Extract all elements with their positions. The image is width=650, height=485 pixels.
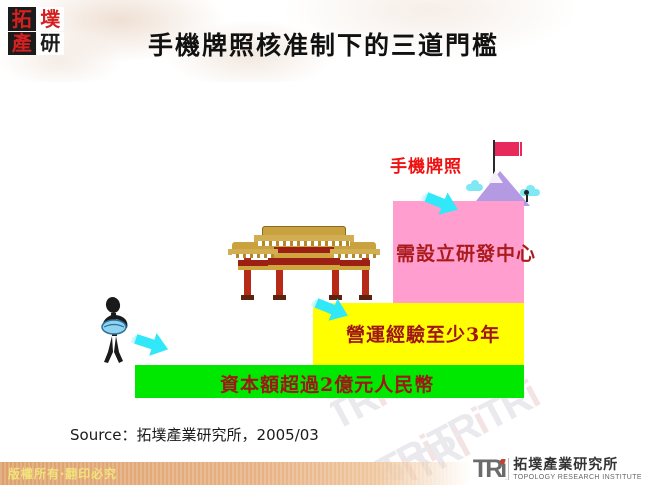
goal-label: 手機牌照 xyxy=(390,152,462,177)
arrow-icon xyxy=(420,189,462,223)
step-bar-3-label: 需設立研發中心 xyxy=(396,239,536,266)
tri-logo-divider xyxy=(508,458,509,480)
step-bar-1: 資本額超過2億元人民幣 xyxy=(135,365,524,398)
gate-base xyxy=(273,295,286,300)
gate-beam xyxy=(238,266,272,270)
step-bar-1-label: 資本額超過2億元人民幣 xyxy=(220,370,434,397)
slide-header: 拓 墣 產 研 手機牌照核准制下的三道門檻 xyxy=(0,0,650,82)
porter-figure xyxy=(96,296,142,366)
paifang-gate-graphic xyxy=(228,222,380,302)
tri-logo-names: 拓墣產業研究所 TOPOLOGY RESEARCH INSTITUTE xyxy=(513,458,642,481)
corner-logo: 拓 墣 產 研 xyxy=(8,7,64,55)
gate-beam xyxy=(336,266,370,270)
slide-canvas: TRiTRiTRi TRiTRiTRi TRiTRiTRi TRiTRiTRi … xyxy=(0,0,650,485)
tri-logo-cn: 拓墣產業研究所 xyxy=(513,458,642,472)
corner-logo-char-1: 拓 xyxy=(8,7,36,31)
mountain-snowcap xyxy=(488,171,503,183)
gate-dentil xyxy=(232,254,274,258)
tri-logo-en: TOPOLOGY RESEARCH INSTITUTE xyxy=(513,474,642,481)
corner-logo-char-4: 研 xyxy=(37,32,65,56)
gate-dentil xyxy=(258,241,350,246)
copyright-text: 版權所有‧翻印必究 xyxy=(8,465,117,482)
tri-logo-mark-text: TRi xyxy=(473,455,504,483)
tri-logo-dot-icon xyxy=(500,459,505,464)
mountain-peak-graphic xyxy=(466,140,546,206)
tri-logo-mark: TRi xyxy=(473,457,504,482)
step-bar-2-label: 營運經驗至少3年 xyxy=(346,320,500,347)
gate-dentil xyxy=(334,254,376,258)
page-title: 手機牌照核准制下的三道門檻 xyxy=(148,26,578,62)
cloud-icon xyxy=(466,184,483,191)
gate-band xyxy=(268,265,340,270)
tri-logo: TRi 拓墣產業研究所 TOPOLOGY RESEARCH INSTITUTE xyxy=(473,456,642,482)
arrow-icon xyxy=(310,295,352,329)
gate-base xyxy=(241,295,254,300)
corner-logo-char-2: 墣 xyxy=(37,7,65,31)
source-note: Source：拓墣產業研究所，2005/03 xyxy=(70,424,319,445)
red-flag-icon xyxy=(495,142,521,156)
corner-logo-char-3: 產 xyxy=(8,32,36,56)
gate-base xyxy=(359,295,372,300)
